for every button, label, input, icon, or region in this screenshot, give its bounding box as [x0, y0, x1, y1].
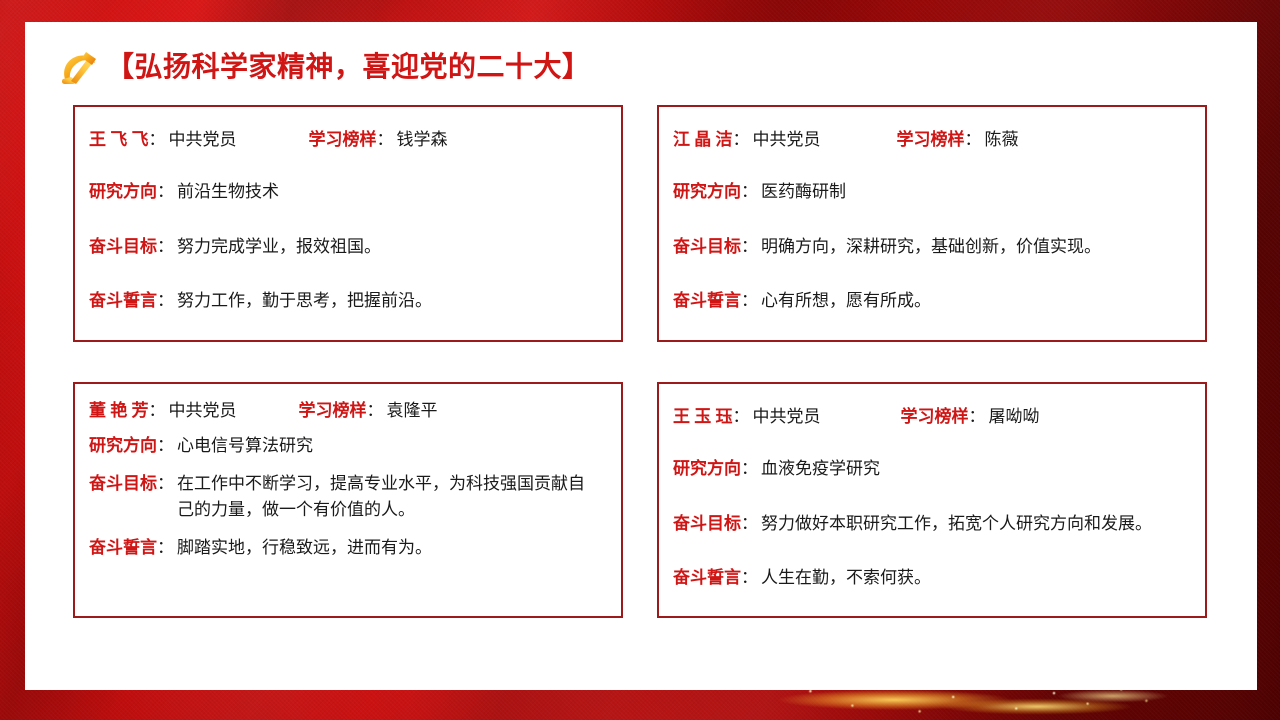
member-card[interactable]: 董 艳 芳 ： 中共党员 学习榜样 ： 袁隆平 研究方向 ： 心电信号算法研究 — [73, 382, 623, 618]
research-direction-row: 研究方向 ： 医药酶研制 — [673, 181, 1189, 202]
research-direction-value: 心电信号算法研究 — [177, 435, 313, 456]
goal-label: 奋斗目标 — [89, 471, 157, 497]
goal-label: 奋斗目标 — [673, 234, 741, 260]
colon: ： — [367, 400, 384, 421]
member-name: 董 艳 芳 — [89, 400, 149, 421]
colon: ： — [741, 234, 758, 260]
oath-value: 努力工作，勤于思考，把握前沿。 — [177, 290, 432, 311]
colon: ： — [969, 406, 986, 427]
research-direction-row: 研究方向 ： 前沿生物技术 — [89, 181, 605, 202]
colon: ： — [157, 471, 174, 497]
member-name-row: 江 晶 洁 ： 中共党员 学习榜样 ： 陈薇 — [673, 129, 1189, 150]
colon: ： — [741, 567, 758, 588]
goal-row: 奋斗目标 ： 努力做好本职研究工作，拓宽个人研究方向和发展。 — [673, 511, 1189, 537]
member-name: 王 飞 飞 — [89, 129, 149, 150]
role-model-value: 袁隆平 — [387, 400, 438, 421]
research-direction-label: 研究方向 — [673, 458, 741, 479]
colon: ： — [741, 511, 758, 537]
page-title: 【弘扬科学家精神，喜迎党的二十大】 — [106, 54, 591, 82]
member-role: 中共党员 — [753, 406, 821, 427]
colon: ： — [733, 406, 750, 427]
goal-row: 奋斗目标 ： 努力完成学业，报效祖国。 — [89, 234, 605, 260]
oath-row: 奋斗誓言 ： 人生在勤，不索何获。 — [673, 567, 1189, 588]
research-direction-label: 研究方向 — [89, 435, 157, 456]
oath-value: 脚踏实地，行稳致远，进而有为。 — [177, 537, 432, 558]
oath-label: 奋斗誓言 — [89, 537, 157, 558]
research-direction-value: 前沿生物技术 — [177, 181, 279, 202]
colon: ： — [157, 234, 174, 260]
role-model-label: 学习榜样 — [897, 129, 965, 150]
member-name-row: 董 艳 芳 ： 中共党员 学习榜样 ： 袁隆平 — [89, 400, 605, 421]
oath-row: 奋斗誓言 ： 心有所想，愿有所成。 — [673, 290, 1189, 311]
member-role: 中共党员 — [169, 129, 237, 150]
oath-label: 奋斗誓言 — [673, 290, 741, 311]
role-model-value: 陈薇 — [985, 129, 1019, 150]
research-direction-row: 研究方向 ： 血液免疫学研究 — [673, 458, 1189, 479]
goal-row: 奋斗目标 ： 明确方向，深耕研究，基础创新，价值实现。 — [673, 234, 1189, 260]
role-model-label: 学习榜样 — [901, 406, 969, 427]
member-name: 王 玉 珏 — [673, 406, 733, 427]
colon: ： — [377, 129, 394, 150]
oath-label: 奋斗誓言 — [673, 567, 741, 588]
colon: ： — [965, 129, 982, 150]
colon: ： — [741, 181, 758, 202]
member-card[interactable]: 王 玉 珏 ： 中共党员 学习榜样 ： 屠呦呦 研究方向 ： 血液免疫学研究 — [657, 382, 1207, 618]
goal-row: 奋斗目标 ： 在工作中不断学习，提高专业水平，为科技强国贡献自己的力量，做一个有… — [89, 471, 605, 524]
role-model-label: 学习榜样 — [309, 129, 377, 150]
role-model-value: 钱学森 — [397, 129, 448, 150]
colon: ： — [733, 129, 750, 150]
slide-stage: 【弘扬科学家精神，喜迎党的二十大】 王 飞 飞 ： 中共党员 学习榜样 ： 钱学… — [0, 0, 1280, 720]
colon: ： — [157, 435, 174, 456]
member-card[interactable]: 江 晶 洁 ： 中共党员 学习榜样 ： 陈薇 研究方向 ： 医药酶研制 — [657, 105, 1207, 342]
research-direction-value: 医药酶研制 — [761, 181, 846, 202]
research-direction-label: 研究方向 — [673, 181, 741, 202]
oath-row: 奋斗誓言 ： 脚踏实地，行稳致远，进而有为。 — [89, 537, 605, 558]
colon: ： — [149, 129, 166, 150]
member-name-row: 王 飞 飞 ： 中共党员 学习榜样 ： 钱学森 — [89, 129, 605, 150]
colon: ： — [157, 181, 174, 202]
goal-value: 努力做好本职研究工作，拓宽个人研究方向和发展。 — [761, 511, 1152, 537]
goal-label: 奋斗目标 — [673, 511, 741, 537]
colon: ： — [149, 400, 166, 421]
member-card-body: 董 艳 芳 ： 中共党员 学习榜样 ： 袁隆平 研究方向 ： 心电信号算法研究 — [75, 384, 621, 616]
research-direction-row: 研究方向 ： 心电信号算法研究 — [89, 435, 605, 456]
goal-value: 努力完成学业，报效祖国。 — [177, 234, 381, 260]
member-card-body: 江 晶 洁 ： 中共党员 学习榜样 ： 陈薇 研究方向 ： 医药酶研制 — [659, 107, 1205, 340]
member-card-body: 王 飞 飞 ： 中共党员 学习榜样 ： 钱学森 研究方向 ： 前沿生物技术 — [75, 107, 621, 340]
research-direction-label: 研究方向 — [89, 181, 157, 202]
oath-label: 奋斗誓言 — [89, 290, 157, 311]
member-name-row: 王 玉 珏 ： 中共党员 学习榜样 ： 屠呦呦 — [673, 406, 1189, 427]
oath-value: 人生在勤，不索何获。 — [761, 567, 931, 588]
oath-row: 奋斗誓言 ： 努力工作，勤于思考，把握前沿。 — [89, 290, 605, 311]
header: 【弘扬科学家精神，喜迎党的二十大】 — [58, 48, 591, 88]
goal-value: 在工作中不断学习，提高专业水平，为科技强国贡献自己的力量，做一个有价值的人。 — [177, 471, 599, 524]
member-card[interactable]: 王 飞 飞 ： 中共党员 学习榜样 ： 钱学森 研究方向 ： 前沿生物技术 — [73, 105, 623, 342]
role-model-label: 学习榜样 — [299, 400, 367, 421]
content-panel: 【弘扬科学家精神，喜迎党的二十大】 王 飞 飞 ： 中共党员 学习榜样 ： 钱学… — [25, 22, 1257, 690]
colon: ： — [741, 290, 758, 311]
research-direction-value: 血液免疫学研究 — [761, 458, 880, 479]
member-role: 中共党员 — [169, 400, 237, 421]
goal-label: 奋斗目标 — [89, 234, 157, 260]
role-model-value: 屠呦呦 — [989, 406, 1040, 427]
party-emblem-hammer-sickle-icon — [58, 48, 102, 88]
goal-value: 明确方向，深耕研究，基础创新，价值实现。 — [761, 234, 1101, 260]
member-name: 江 晶 洁 — [673, 129, 733, 150]
colon: ： — [157, 537, 174, 558]
member-role: 中共党员 — [753, 129, 821, 150]
colon: ： — [741, 458, 758, 479]
member-card-body: 王 玉 珏 ： 中共党员 学习榜样 ： 屠呦呦 研究方向 ： 血液免疫学研究 — [659, 384, 1205, 616]
colon: ： — [157, 290, 174, 311]
oath-value: 心有所想，愿有所成。 — [761, 290, 931, 311]
